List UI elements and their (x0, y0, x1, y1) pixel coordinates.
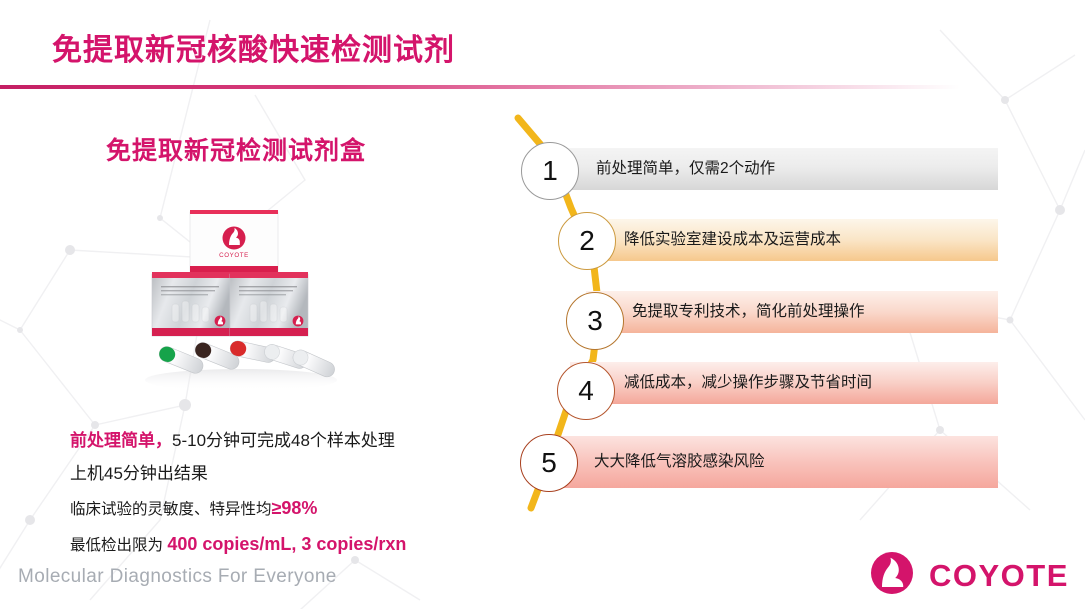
step-text-2: 降低实验室建设成本及运营成本 (624, 219, 841, 261)
spec-sensitivity: 临床试验的灵敏度、特异性均≥98% (70, 499, 490, 518)
spec-runtime: 上机45分钟出结果 (70, 465, 490, 482)
spec-pretreatment: 前处理简单，5-10分钟可完成48个样本处理 (70, 432, 490, 449)
kit-box-left: COYOTE (152, 272, 230, 336)
spec-sensitivity-value: ≥98% (272, 498, 318, 518)
step-text-5: 大大降低气溶胶感染风险 (594, 441, 765, 483)
svg-text:COYOTE: COYOTE (219, 252, 249, 259)
footer-tagline: Molecular Diagnostics For Everyone (18, 566, 337, 588)
step-number-1: 1 (542, 155, 558, 187)
step-number-2: 2 (579, 225, 595, 257)
spec-pretreatment-value: 5-10分钟可完成48个样本处理 (172, 431, 395, 450)
step-circle-2[interactable]: 2 (558, 212, 616, 270)
spec-lod: 最低检出限为 400 copies/mL, 3 copies/rxn (70, 535, 490, 554)
step-text-3: 免提取专利技术，简化前处理操作 (632, 291, 865, 333)
step-text-4: 减低成本，减少操作步骤及节省时间 (624, 362, 872, 404)
spec-lod-label: 最低检出限为 (70, 537, 167, 554)
spec-lod-value: 400 copies/mL, 3 copies/rxn (167, 534, 406, 554)
svg-text:COYOTE: COYOTE (292, 329, 305, 333)
spec-pretreatment-label: 前处理简单， (70, 431, 172, 450)
step-number-3: 3 (587, 305, 603, 337)
step-circle-1[interactable]: 1 (521, 142, 579, 200)
step-text-1: 前处理简单，仅需2个动作 (596, 148, 775, 190)
spec-list: 前处理简单，5-10分钟可完成48个样本处理 上机45分钟出结果 临床试验的灵敏… (70, 432, 490, 553)
kit-box-top: COYOTE (190, 210, 278, 275)
kit-heading: 免提取新冠检测试剂盒 (106, 131, 366, 167)
step-number-4: 4 (578, 375, 594, 407)
step-circle-3[interactable]: 3 (566, 292, 624, 350)
slide-canvas: 免提取新冠核酸快速检测试剂 免提取新冠检测试剂盒 (0, 0, 1085, 609)
page-title: 免提取新冠核酸快速检测试剂 (52, 25, 455, 69)
step-circle-4[interactable]: 4 (557, 362, 615, 420)
product-photo: COYOTE COYOTE (128, 208, 354, 393)
step-number-5: 5 (541, 447, 557, 479)
title-divider (0, 85, 960, 89)
step-circle-5[interactable]: 5 (520, 434, 578, 492)
kit-box-right: COYOTE (230, 272, 308, 336)
spec-sensitivity-label: 临床试验的灵敏度、特异性均 (70, 501, 272, 518)
svg-text:COYOTE: COYOTE (214, 329, 227, 333)
brand-wordmark: COYOTE (929, 558, 1069, 594)
